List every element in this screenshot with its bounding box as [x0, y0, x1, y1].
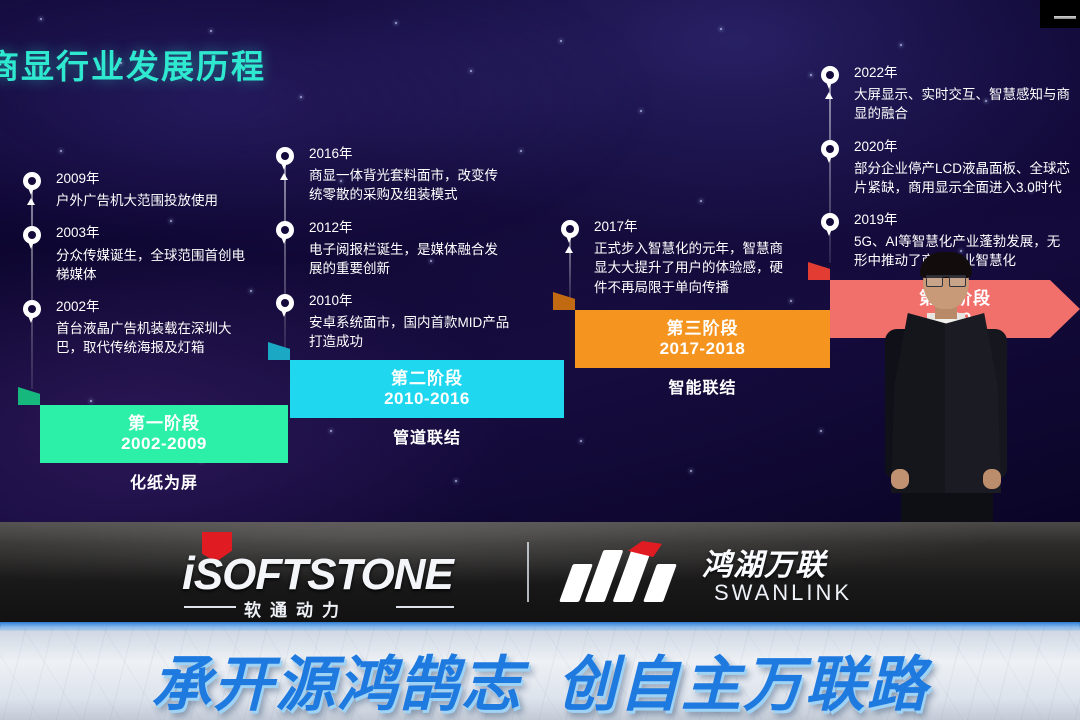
event-year: 2022年	[854, 64, 1070, 82]
map-pin-icon	[22, 226, 42, 252]
event-year: 2016年	[309, 145, 510, 163]
timeline-event[interactable]: 2010年 安卓系统面市，国内首款MID产品打造成功	[275, 292, 510, 352]
stage-3-events: 2017年 正式步入智慧化的元年，智慧商显大大提升了用户的体验感，硬件不再局限于…	[560, 218, 790, 311]
stage-2-events: 2016年 商显一体背光套料面市，改变传统零散的采购及组装模式 2012年 电子…	[275, 145, 510, 366]
timeline-event[interactable]: 2003年 分众传媒诞生，全球范围首创电梯媒体	[22, 224, 252, 284]
logo-row: iSOFTSTONE 软通动力 鸿湖万联 SWANLINK	[0, 522, 1080, 622]
podium-logo-band: iSOFTSTONE 软通动力 鸿湖万联 SWANLINK	[0, 522, 1080, 622]
presenter-left-hand	[891, 469, 909, 489]
stage-years: 2017-2018	[660, 339, 746, 359]
stage-caption: 管道联结	[290, 424, 564, 448]
stage-name: 第一阶段	[128, 414, 200, 434]
event-year: 2010年	[309, 292, 510, 310]
timeline-event[interactable]: 2016年 商显一体背光套料面市，改变传统零散的采购及组装模式	[275, 145, 510, 205]
map-pin-icon	[820, 140, 840, 166]
event-desc: 安卓系统面市，国内首款MID产品打造成功	[309, 313, 510, 351]
led-screen: 商显行业发展历程 2009年 户外广告机大范围投放使用 2003年 分众传媒诞生…	[0, 0, 1080, 522]
timeline-event[interactable]: 2012年 电子阅报栏诞生，是媒体融合发展的重要创新	[275, 219, 510, 279]
timeline-event[interactable]: 2017年 正式步入智慧化的元年，智慧商显大大提升了用户的体验感，硬件不再局限于…	[560, 218, 790, 297]
map-pin-icon	[820, 66, 840, 92]
corner-overlay-box	[1040, 0, 1080, 28]
swanlink-english: SWANLINK	[714, 580, 852, 606]
stage-years: 2010-2016	[384, 389, 470, 409]
event-desc: 首台液晶广告机装载在深圳大巴，取代传统海报及灯箱	[56, 319, 252, 357]
event-year: 2002年	[56, 298, 252, 316]
stage-1-events: 2009年 户外广告机大范围投放使用 2003年 分众传媒诞生，全球范围首创电梯…	[22, 170, 252, 371]
stage-name: 第三阶段	[667, 319, 739, 339]
event-desc: 大屏显示、实时交互、智慧感知与商显的融合	[854, 85, 1070, 123]
slogan-banner: 承开源鸿鹄志创自主万联路	[0, 622, 1080, 720]
glasses-icon	[926, 275, 966, 286]
stage-caption: 智能联结	[575, 374, 830, 398]
presenter	[875, 255, 1015, 522]
event-desc: 商显一体背光套料面市，改变传统零散的采购及组装模式	[309, 166, 510, 204]
event-year: 2012年	[309, 219, 510, 237]
event-desc: 分众传媒诞生，全球范围首创电梯媒体	[56, 246, 252, 284]
map-pin-icon	[275, 147, 295, 173]
banner-bar: 第二阶段 2010-2016	[290, 360, 564, 418]
timeline-event[interactable]: 2022年 大屏显示、实时交互、智慧感知与商显的融合	[820, 64, 1070, 124]
banner-fold	[18, 387, 40, 405]
page-title: 商显行业发展历程	[0, 40, 266, 88]
event-year: 2020年	[854, 138, 1070, 156]
event-desc: 部分企业停产LCD液晶面板、全球芯片紧缺，商用显示全面进入3.0时代	[854, 159, 1070, 197]
isoftstone-logo: iSOFTSTONE 软通动力	[182, 534, 498, 612]
stage-caption: 化纸为屏	[40, 469, 288, 493]
map-pin-icon	[22, 300, 42, 326]
slogan-right: 创自主万联路	[557, 651, 929, 718]
overlay-indicator-bar	[1054, 16, 1076, 19]
isoftstone-chinese: 软通动力	[244, 596, 348, 621]
timeline-event[interactable]: 2002年 首台液晶广告机装载在深圳大巴，取代传统海报及灯箱	[22, 298, 252, 358]
slogan-text: 承开源鸿鹄志创自主万联路	[0, 636, 1080, 720]
slogan-left: 承开源鸿鹄志	[151, 651, 523, 718]
presenter-right-hand	[983, 469, 1001, 489]
event-desc: 电子阅报栏诞生，是媒体融合发展的重要创新	[309, 240, 510, 278]
event-year: 2017年	[594, 218, 790, 236]
map-pin-icon	[275, 221, 295, 247]
isoftstone-wordmark: iSOFTSTONE	[182, 546, 453, 600]
swanlink-wing-icon	[566, 550, 690, 602]
logo-rule-left	[184, 606, 236, 608]
event-year: 2019年	[854, 211, 1070, 229]
map-pin-icon	[560, 220, 580, 246]
stage-years: 2002-2009	[121, 434, 207, 454]
banner-bar: 第一阶段 2002-2009	[40, 405, 288, 463]
isoftstone-wordmark-lead: i	[182, 547, 194, 599]
timeline-event[interactable]: 2020年 部分企业停产LCD液晶面板、全球芯片紧缺，商用显示全面进入3.0时代	[820, 138, 1070, 198]
stage-name: 第二阶段	[391, 369, 463, 389]
logo-divider	[527, 542, 529, 602]
presentation-stage-photo: 商显行业发展历程 2009年 户外广告机大范围投放使用 2003年 分众传媒诞生…	[0, 0, 1080, 720]
map-pin-icon	[22, 172, 42, 198]
event-desc: 户外广告机大范围投放使用	[56, 191, 252, 210]
swanlink-chinese: 鸿湖万联	[702, 540, 826, 584]
event-desc: 正式步入智慧化的元年，智慧商显大大提升了用户的体验感，硬件不再局限于单向传播	[594, 239, 790, 296]
map-pin-icon	[275, 294, 295, 320]
logo-rule-right	[396, 606, 454, 608]
timeline-event[interactable]: 2009年 户外广告机大范围投放使用	[22, 170, 252, 210]
map-pin-icon	[820, 213, 840, 239]
event-year: 2003年	[56, 224, 252, 242]
event-year: 2009年	[56, 170, 252, 188]
isoftstone-wordmark-text: SOFTSTONE	[194, 550, 453, 599]
banner-bar: 第三阶段 2017-2018	[575, 310, 830, 368]
swanlink-logo: 鸿湖万联 SWANLINK	[566, 536, 866, 612]
